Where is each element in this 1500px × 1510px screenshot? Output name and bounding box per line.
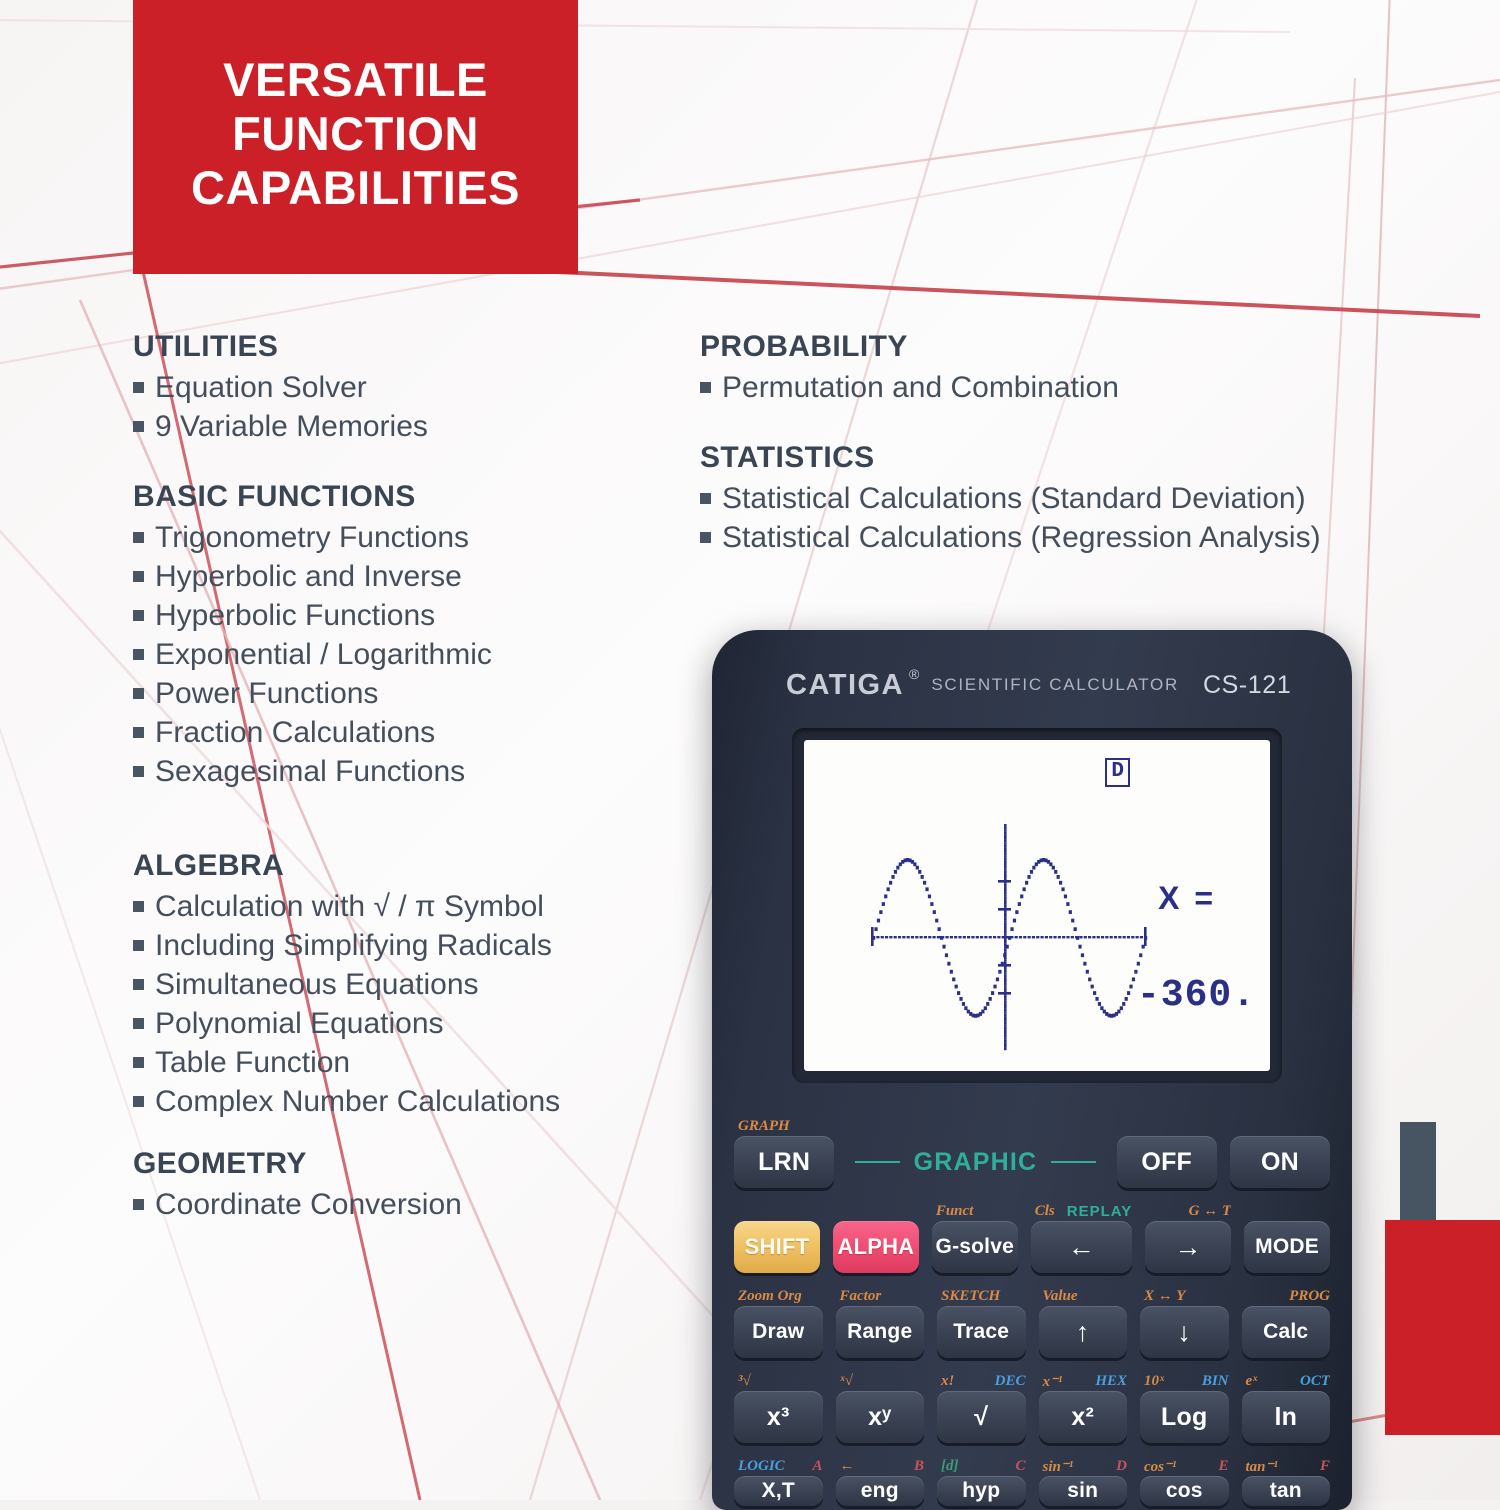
- key-cell-x-t: LOGIC A X,T: [734, 1456, 823, 1506]
- calculator-keypad: GRAPH LRN GRAPHIC OFF ON SHIFT: [712, 1116, 1352, 1510]
- list-item-label: Polynomial Equations: [155, 1004, 444, 1043]
- key-sin[interactable]: sin: [1039, 1476, 1128, 1506]
- key-cell-lrn: GRAPH LRN: [734, 1116, 834, 1188]
- list-item: Polynomial Equations: [133, 1004, 693, 1043]
- key-cell-mode: MODE: [1244, 1201, 1330, 1273]
- key-arrow-left[interactable]: ←: [1031, 1221, 1132, 1273]
- list-item-label: Statistical Calculations (Regression Ana…: [722, 518, 1321, 557]
- square-bullet-icon: [133, 571, 144, 582]
- square-bullet-icon: [133, 688, 144, 699]
- list-item: Statistical Calculations (Regression Ana…: [700, 518, 1490, 557]
- shift-label-off-blank: [1117, 1116, 1217, 1136]
- key-row-draw: Zoom Org Draw Factor Range SKETCH Trace …: [734, 1286, 1330, 1358]
- title-line-1: VERSATILE: [223, 53, 488, 107]
- square-bullet-icon: [133, 1096, 144, 1107]
- key-cell-calc: PROG Calc: [1242, 1286, 1331, 1358]
- key-square-root[interactable]: √: [937, 1391, 1026, 1443]
- list-item: Fraction Calculations: [133, 713, 693, 752]
- key-calc[interactable]: Calc: [1242, 1306, 1331, 1358]
- key-on[interactable]: ON: [1230, 1136, 1330, 1188]
- key-cell-down-arrow: X ↔ Y ↓: [1140, 1286, 1229, 1358]
- shift-label-atan-f: tan⁻¹ F: [1242, 1456, 1331, 1476]
- x-prompt-label: X =: [1158, 880, 1216, 917]
- shift-label-factorial-dec: x! DEC: [937, 1371, 1026, 1391]
- key-x-t[interactable]: X,T: [734, 1476, 823, 1506]
- key-cell-sqrt: x! DEC √: [937, 1371, 1026, 1443]
- list-item: Sexagesimal Functions: [133, 752, 693, 791]
- key-cell-x-cubed: ³√ x³: [734, 1371, 823, 1443]
- key-range[interactable]: Range: [836, 1306, 925, 1358]
- key-lrn[interactable]: LRN: [734, 1136, 834, 1188]
- title-line-3: CAPABILITIES: [191, 161, 520, 215]
- registered-trademark-icon: ®: [909, 666, 919, 682]
- list-item: Trigonometry Functions: [133, 518, 693, 557]
- list-item-label: Coordinate Conversion: [155, 1185, 462, 1224]
- key-cell-draw: Zoom Org Draw: [734, 1286, 823, 1358]
- section-heading-utilities: UTILITIES: [133, 330, 693, 364]
- shift-label-d-c: [d] C: [937, 1456, 1026, 1476]
- square-bullet-icon: [133, 649, 144, 660]
- shift-label-cls: Cls REPLAY: [1031, 1201, 1132, 1221]
- graphic-mode-strip: GRAPHIC: [847, 1136, 1103, 1188]
- list-item-label: Sexagesimal Functions: [155, 752, 465, 791]
- square-bullet-icon: [133, 610, 144, 621]
- key-cell-log: 10ˣ BIN Log: [1140, 1371, 1229, 1443]
- brand-name: CATIGA: [786, 669, 904, 702]
- list-item: Permutation and Combination: [700, 368, 1490, 407]
- feature-list-geometry: Coordinate Conversion: [133, 1185, 693, 1224]
- key-x-squared[interactable]: x²: [1039, 1391, 1128, 1443]
- list-item-label: Permutation and Combination: [722, 368, 1119, 407]
- title-line-2: FUNCTION: [232, 107, 479, 161]
- square-bullet-icon: [133, 532, 144, 543]
- list-item: Calculation with √ / π Symbol: [133, 887, 693, 926]
- list-item: Statistical Calculations (Standard Devia…: [700, 479, 1490, 518]
- list-item-label: Simultaneous Equations: [155, 965, 479, 1004]
- square-bullet-icon: [133, 979, 144, 990]
- key-cell-x-power-y: ˣ√ xʸ: [836, 1371, 925, 1443]
- shift-label-inverse-hex: x⁻¹ HEX: [1039, 1371, 1128, 1391]
- shift-label-acos-e: cos⁻¹ E: [1140, 1456, 1229, 1476]
- x-value-readout: -360.: [1137, 974, 1256, 1017]
- key-x-cubed[interactable]: x³: [734, 1391, 823, 1443]
- square-bullet-icon: [133, 766, 144, 777]
- square-bullet-icon: [133, 1057, 144, 1068]
- shift-label-value: Value: [1039, 1286, 1128, 1306]
- square-bullet-icon: [700, 493, 711, 504]
- square-bullet-icon: [133, 421, 144, 432]
- list-item-label: Equation Solver: [155, 368, 367, 407]
- key-x-power-y[interactable]: xʸ: [836, 1391, 925, 1443]
- key-tan[interactable]: tan: [1242, 1476, 1331, 1506]
- features-left-column: UTILITIES Equation Solver 9 Variable Mem…: [133, 330, 693, 1224]
- graphic-label: GRAPHIC: [914, 1148, 1038, 1177]
- list-item: Complex Number Calculations: [133, 1082, 693, 1121]
- feature-list-statistics: Statistical Calculations (Standard Devia…: [700, 479, 1490, 557]
- shift-label-logic-a: LOGIC A: [734, 1456, 823, 1476]
- shift-label-g-t: G ↔ T: [1145, 1201, 1231, 1221]
- list-item: 9 Variable Memories: [133, 407, 693, 446]
- model-number: CS-121: [1203, 671, 1291, 700]
- key-cell-cos: cos⁻¹ E cos: [1140, 1456, 1229, 1506]
- list-item-label: Hyperbolic Functions: [155, 596, 435, 635]
- square-bullet-icon: [133, 1199, 144, 1210]
- list-item-label: Statistical Calculations (Standard Devia…: [722, 479, 1306, 518]
- key-row-power: GRAPH LRN GRAPHIC OFF ON: [734, 1116, 1330, 1188]
- key-cell-up-arrow: Value ↑: [1039, 1286, 1128, 1358]
- key-cell-alpha: ALPHA: [833, 1201, 919, 1273]
- section-heading-statistics: STATISTICS: [700, 441, 1490, 475]
- list-item-label: 9 Variable Memories: [155, 407, 428, 446]
- square-bullet-icon: [133, 382, 144, 393]
- key-hyp[interactable]: hyp: [937, 1476, 1026, 1506]
- square-bullet-icon: [133, 940, 144, 951]
- feature-list-algebra: Calculation with √ / π Symbol Including …: [133, 887, 693, 1121]
- list-item-label: Table Function: [155, 1043, 350, 1082]
- list-item-label: Fraction Calculations: [155, 713, 435, 752]
- list-item: Including Simplifying Radicals: [133, 926, 693, 965]
- list-item-label: Exponential / Logarithmic: [155, 635, 492, 674]
- list-item: Power Functions: [133, 674, 693, 713]
- shift-label-asin-d: sin⁻¹ D: [1039, 1456, 1128, 1476]
- key-mode[interactable]: MODE: [1244, 1221, 1330, 1273]
- shift-label-zoom-org: Zoom Org: [734, 1286, 823, 1306]
- replay-label: REPLAY: [1067, 1203, 1132, 1220]
- feature-list-basic-functions: Trigonometry Functions Hyperbolic and In…: [133, 518, 693, 791]
- title-banner: VERSATILE FUNCTION CAPABILITIES: [133, 0, 578, 274]
- shift-label-blank-1: [734, 1201, 820, 1221]
- list-item: Coordinate Conversion: [133, 1185, 693, 1224]
- list-item-label: Power Functions: [155, 674, 378, 713]
- shift-label-nth-root: ˣ√: [836, 1371, 925, 1391]
- section-heading-geometry: GEOMETRY: [133, 1147, 693, 1181]
- shift-label-e-power-oct: eˣ OCT: [1242, 1371, 1331, 1391]
- key-arrow-up[interactable]: ↑: [1039, 1306, 1128, 1358]
- key-off[interactable]: OFF: [1117, 1136, 1217, 1188]
- list-item-label: Complex Number Calculations: [155, 1082, 560, 1121]
- lcd-bezel: D X = -360.: [792, 728, 1282, 1083]
- shift-label-prog: PROG: [1242, 1286, 1331, 1306]
- shift-label-x-y: X ↔ Y: [1140, 1286, 1229, 1306]
- key-log[interactable]: Log: [1140, 1391, 1229, 1443]
- features-right-column: PROBABILITY Permutation and Combination …: [700, 330, 1490, 557]
- list-item-label: Calculation with √ / π Symbol: [155, 887, 544, 926]
- key-cell-tan: tan⁻¹ F tan: [1242, 1456, 1331, 1506]
- shift-label-back-b: ← B: [836, 1456, 925, 1476]
- key-cell-right-arrow: G ↔ T →: [1145, 1201, 1231, 1273]
- list-item-label: Including Simplifying Radicals: [155, 926, 552, 965]
- shift-label-blank-2: [833, 1201, 919, 1221]
- shift-label-funct: Funct: [932, 1201, 1018, 1221]
- key-alpha[interactable]: ALPHA: [833, 1221, 919, 1273]
- strip-dash-right: [1051, 1161, 1095, 1163]
- key-cell-sin: sin⁻¹ D sin: [1039, 1456, 1128, 1506]
- key-cell-shift: SHIFT: [734, 1201, 820, 1273]
- feature-list-utilities: Equation Solver 9 Variable Memories: [133, 368, 693, 446]
- list-item: Simultaneous Equations: [133, 965, 693, 1004]
- feature-list-probability: Permutation and Combination: [700, 368, 1490, 407]
- key-row-trig: LOGIC A X,T ← B eng [d] C: [734, 1456, 1330, 1506]
- key-draw[interactable]: Draw: [734, 1306, 823, 1358]
- key-arrow-down[interactable]: ↓: [1140, 1306, 1229, 1358]
- shift-label-graph: GRAPH: [734, 1116, 834, 1136]
- square-bullet-icon: [133, 727, 144, 738]
- key-g-solve[interactable]: G-solve: [932, 1221, 1018, 1273]
- shift-label-blank-3: [1244, 1201, 1330, 1221]
- key-cell-hyp: [d] C hyp: [937, 1456, 1026, 1506]
- square-bullet-icon: [133, 901, 144, 912]
- lcd-screen: D X = -360.: [804, 740, 1270, 1071]
- degree-mode-indicator: D: [1105, 758, 1130, 787]
- brand-subtitle: SCIENTIFIC CALCULATOR: [931, 675, 1179, 695]
- strip-dash-left: [855, 1161, 899, 1163]
- key-arrow-right[interactable]: →: [1145, 1221, 1231, 1273]
- key-ln[interactable]: ln: [1242, 1391, 1331, 1443]
- key-cell-left-arrow: Cls REPLAY ←: [1031, 1201, 1132, 1273]
- key-cos[interactable]: cos: [1140, 1476, 1229, 1506]
- shift-label-on-blank: [1230, 1116, 1330, 1136]
- calculator-brand-bar: CATIGA ® SCIENTIFIC CALCULATOR CS-121: [712, 660, 1352, 710]
- key-cell-on: ON: [1230, 1116, 1330, 1188]
- list-item-label: Trigonometry Functions: [155, 518, 469, 557]
- key-cell-gsolve: Funct G-solve: [932, 1201, 1018, 1273]
- key-row-power-functions: ³√ x³ ˣ√ xʸ x! DEC √ x⁻¹ HEX: [734, 1371, 1330, 1443]
- key-shift[interactable]: SHIFT: [734, 1221, 820, 1273]
- key-cell-eng: ← B eng: [836, 1456, 925, 1506]
- key-cell-ln: eˣ OCT ln: [1242, 1371, 1331, 1443]
- key-trace[interactable]: Trace: [937, 1306, 1026, 1358]
- list-item-label: Hyperbolic and Inverse: [155, 557, 462, 596]
- list-item: Hyperbolic Functions: [133, 596, 693, 635]
- square-bullet-icon: [133, 1018, 144, 1029]
- square-bullet-icon: [700, 382, 711, 393]
- key-cell-trace: SKETCH Trace: [937, 1286, 1026, 1358]
- key-cell-range: Factor Range: [836, 1286, 925, 1358]
- section-heading-basic-functions: BASIC FUNCTIONS: [133, 480, 693, 514]
- section-heading-algebra: ALGEBRA: [133, 849, 693, 883]
- list-item: Table Function: [133, 1043, 693, 1082]
- shift-label-sketch: SKETCH: [937, 1286, 1026, 1306]
- calculator-device: CATIGA ® SCIENTIFIC CALCULATOR CS-121 D …: [712, 630, 1352, 1510]
- key-eng[interactable]: eng: [836, 1476, 925, 1506]
- list-item: Equation Solver: [133, 368, 693, 407]
- red-accent-block: [1385, 1220, 1500, 1435]
- shift-label-ten-power-bin: 10ˣ BIN: [1140, 1371, 1229, 1391]
- square-bullet-icon: [700, 532, 711, 543]
- list-item: Exponential / Logarithmic: [133, 635, 693, 674]
- key-cell-off: OFF: [1117, 1116, 1217, 1188]
- key-row-shift: SHIFT ALPHA Funct G-solve Cls REPLAY: [734, 1201, 1330, 1273]
- section-heading-probability: PROBABILITY: [700, 330, 1490, 364]
- list-item: Hyperbolic and Inverse: [133, 557, 693, 596]
- key-cell-x-squared: x⁻¹ HEX x²: [1039, 1371, 1128, 1443]
- shift-label-factor: Factor: [836, 1286, 925, 1306]
- shift-label-cube-root: ³√: [734, 1371, 823, 1391]
